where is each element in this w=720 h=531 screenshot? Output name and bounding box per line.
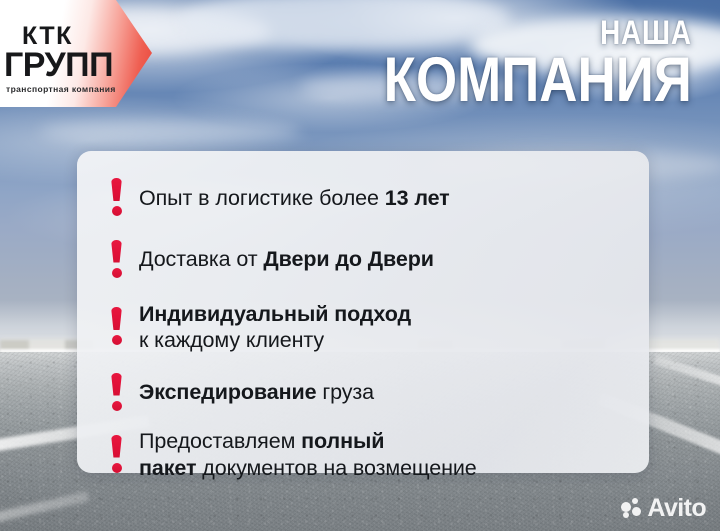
features-card: Опыт в логистике более 13 летДоставка от… [77, 151, 649, 473]
feature-text: Опыт в логистике более 13 лет [139, 185, 450, 211]
feature-text-line: Предоставляем полный [139, 428, 477, 454]
feature-text-line: Экспедирование груза [139, 379, 374, 405]
exclamation-icon [105, 240, 139, 280]
feature-text-strong: Экспедирование [139, 380, 316, 404]
feature-text: Индивидуальный подходк каждому клиенту [139, 301, 411, 353]
feature-text-strong: полный [301, 429, 384, 453]
feature-text-plain: Доставка от [139, 247, 263, 271]
feature-text-strong: пакет [139, 456, 196, 480]
feature-item-freight-forwarding: Экспедирование груза [105, 363, 627, 422]
avito-label: Avito [647, 496, 706, 521]
feature-item-full-document-package: Предоставляем полныйпакет документов на … [105, 422, 627, 487]
feature-text-plain: Опыт в логистике более [139, 186, 385, 210]
exclamation-icon [105, 178, 139, 218]
feature-text-line: Доставка от Двери до Двери [139, 246, 434, 272]
feature-text: Предоставляем полныйпакет документов на … [139, 428, 477, 480]
feature-text-plain: груза [316, 380, 374, 404]
avito-watermark: Avito [621, 496, 706, 521]
avito-dots-icon [621, 498, 642, 519]
feature-item-individual-approach: Индивидуальный подходк каждому клиенту [105, 291, 627, 363]
features-list: Опыт в логистике более 13 летДоставка от… [105, 168, 627, 487]
feature-text-plain: документов на возмещение [196, 456, 476, 480]
feature-text-strong: 13 лет [385, 186, 450, 210]
feature-text: Доставка от Двери до Двери [139, 246, 434, 272]
feature-item-experience: Опыт в логистике более 13 лет [105, 168, 627, 228]
feature-item-door-to-door: Доставка от Двери до Двери [105, 228, 627, 291]
feature-text-plain: Предоставляем [139, 429, 301, 453]
page-title: НАША КОМПАНИЯ [325, 18, 692, 111]
feature-text-strong: Индивидуальный подход [139, 302, 411, 326]
feature-text: Экспедирование груза [139, 379, 374, 405]
feature-text-plain: к каждому клиенту [139, 328, 324, 352]
exclamation-icon [105, 307, 139, 347]
feature-text-line: Индивидуальный подход [139, 301, 411, 327]
logo-word: ГРУПП [4, 46, 113, 85]
feature-text-line: пакет документов на возмещение [139, 455, 477, 481]
exclamation-icon [105, 435, 139, 475]
headline-line-2: КОМПАНИЯ [384, 51, 692, 111]
feature-text-line: Опыт в логистике более 13 лет [139, 185, 450, 211]
logo-subtitle: транспортная компания [6, 84, 116, 94]
exclamation-icon [105, 373, 139, 413]
feature-text-strong: Двери до Двери [263, 247, 433, 271]
feature-text-line: к каждому клиенту [139, 327, 411, 353]
